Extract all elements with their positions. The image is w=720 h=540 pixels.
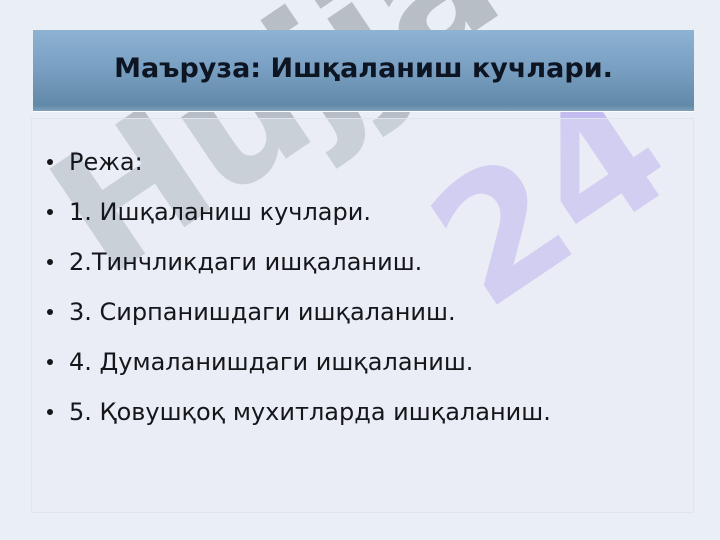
- list-item-label: 1. Ишқаланиш кучлари.: [69, 198, 371, 226]
- list-item: 5. Қовушқоқ мухитларда ишқаланиш.: [32, 387, 693, 437]
- list-item: 4. Думаланишдаги ишқаланиш.: [32, 337, 693, 387]
- list-item: Режа:: [32, 137, 693, 187]
- list-item-label: 3. Сирпанишдаги ишқаланиш.: [69, 298, 456, 326]
- page-title: Маъруза: Ишқаланиш кучлари.: [114, 54, 613, 84]
- bullet-dot-icon: [47, 209, 53, 215]
- slide-title-bar: Маъруза: Ишқаланиш кучлари.: [33, 30, 694, 111]
- slide-canvas: Hujjat 24 Маъруза: Ишқаланиш кучлари. Ре…: [0, 0, 720, 540]
- list-item: 1. Ишқаланиш кучлари.: [32, 187, 693, 237]
- list-item: 2.Тинчликдаги ишқаланиш.: [32, 237, 693, 287]
- bullet-dot-icon: [47, 359, 53, 365]
- list-item-label: 4. Думаланишдаги ишқаланиш.: [69, 348, 473, 376]
- list-item-label: 2.Тинчликдаги ишқаланиш.: [69, 248, 422, 276]
- bullet-dot-icon: [47, 159, 53, 165]
- list-item-label: 5. Қовушқоқ мухитларда ишқаланиш.: [69, 398, 551, 426]
- slide-content-panel: Режа:1. Ишқаланиш кучлари.2.Тинчликдаги …: [31, 118, 694, 513]
- bullet-dot-icon: [47, 259, 53, 265]
- list-item-label: Режа:: [69, 148, 143, 176]
- list-item: 3. Сирпанишдаги ишқаланиш.: [32, 287, 693, 337]
- bullet-dot-icon: [47, 309, 53, 315]
- bullet-list: Режа:1. Ишқаланиш кучлари.2.Тинчликдаги …: [32, 137, 693, 437]
- bullet-dot-icon: [47, 409, 53, 415]
